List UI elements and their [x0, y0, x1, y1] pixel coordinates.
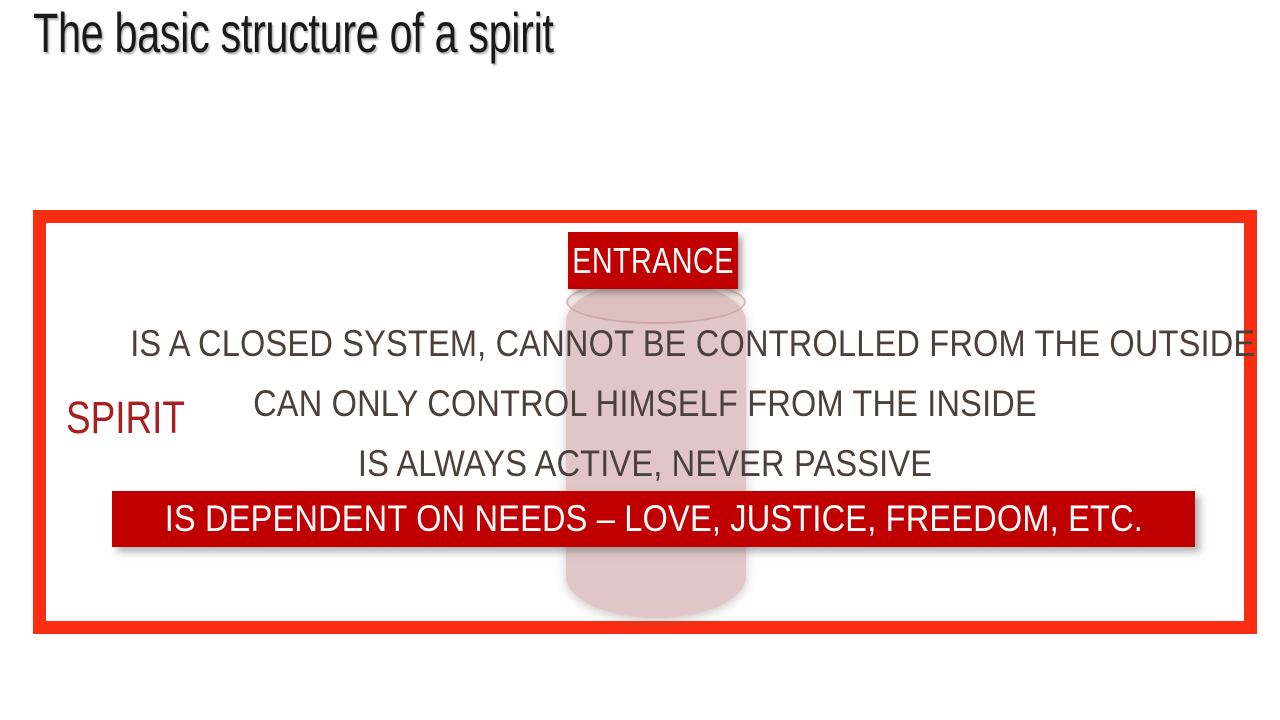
needs-banner-label: IS DEPENDENT ON NEEDS – LOVE, JUSTICE, F… — [164, 498, 1142, 540]
entrance-badge: ENTRANCE — [568, 232, 738, 289]
needs-banner: IS DEPENDENT ON NEEDS – LOVE, JUSTICE, F… — [112, 491, 1195, 547]
statement-line: IS ALWAYS ACTIVE, NEVER PASSIVE — [130, 434, 1160, 494]
statement-line: IS A CLOSED SYSTEM, CANNOT BE CONTROLLED… — [130, 314, 1160, 374]
page-title: The basic structure of a spirit — [33, 2, 554, 65]
statement-line: CAN ONLY CONTROL HIMSELF FROM THE INSIDE — [130, 374, 1160, 434]
entrance-badge-label: ENTRANCE — [572, 240, 734, 282]
statement-list: IS A CLOSED SYSTEM, CANNOT BE CONTROLLED… — [60, 314, 1230, 494]
